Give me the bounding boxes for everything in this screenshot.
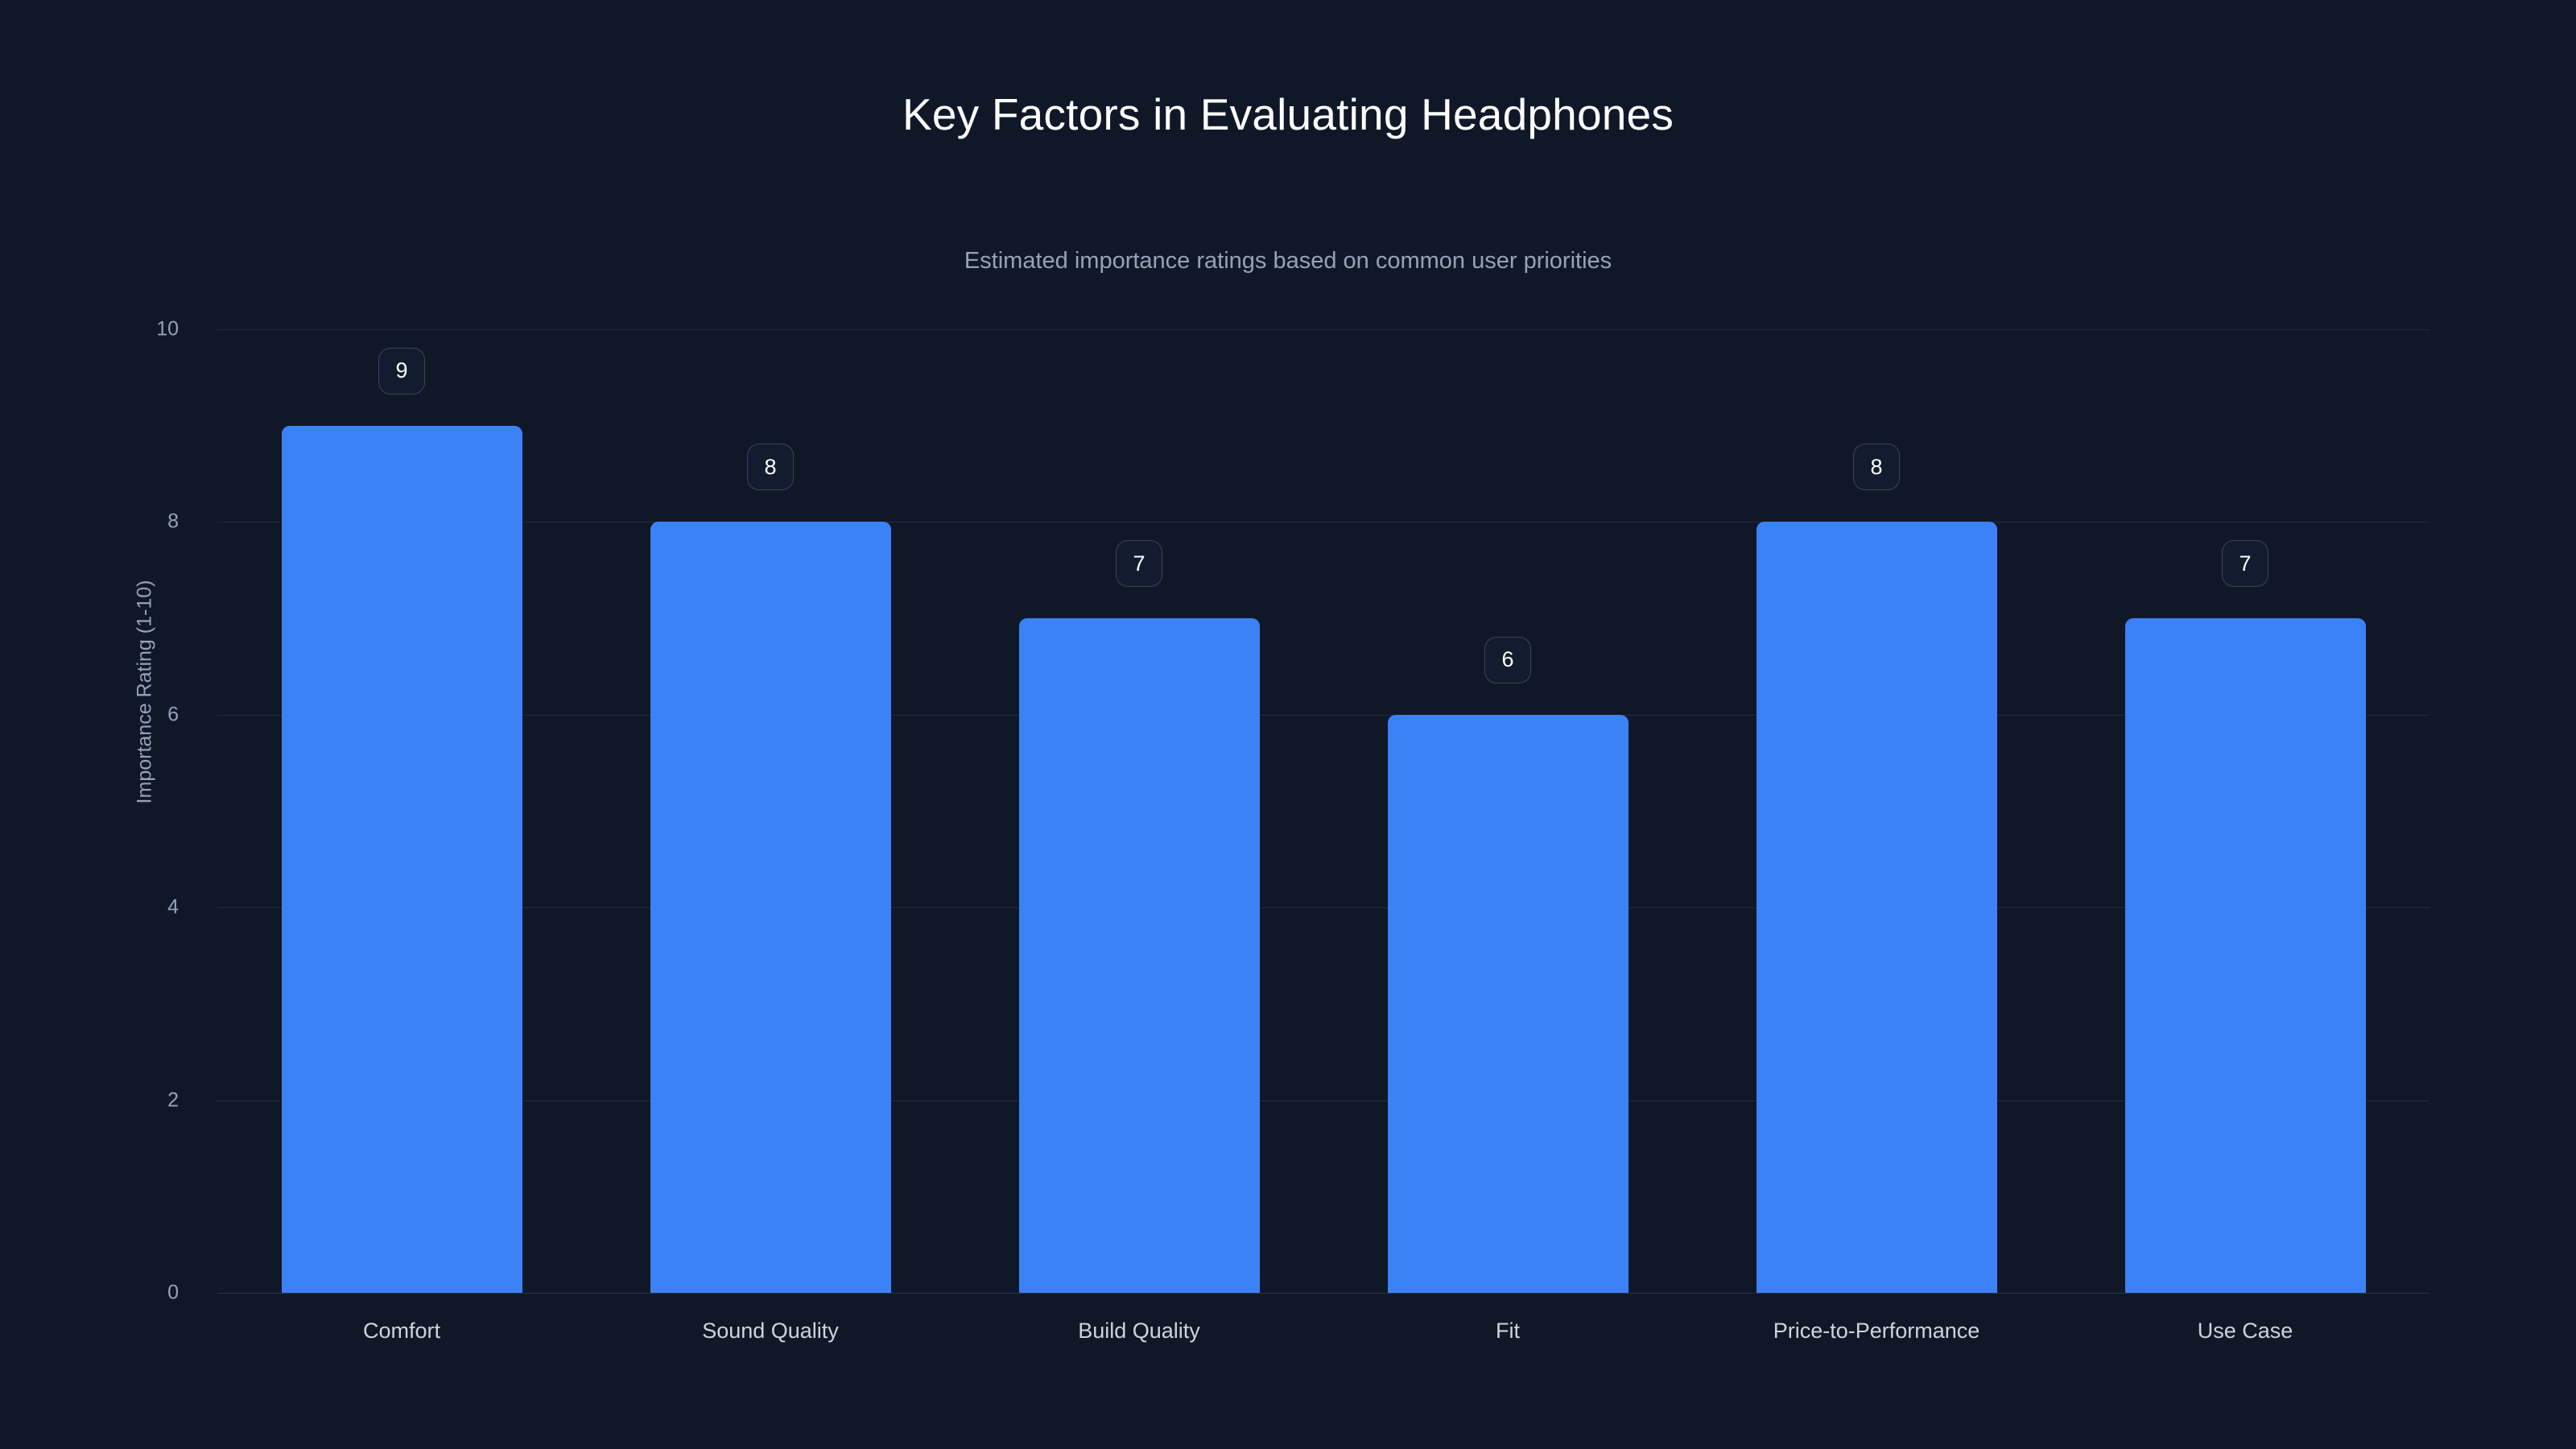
- y-axis-tick-label: 4: [167, 896, 179, 919]
- bar-value-badge: 7: [2222, 540, 2268, 587]
- x-axis-tick-label: Comfort: [363, 1319, 440, 1344]
- bar-group[interactable]: 8: [1757, 329, 1997, 1293]
- bar-group[interactable]: 8: [650, 329, 891, 1293]
- bar-value-badge: 9: [378, 348, 425, 394]
- chart-subtitle: Estimated importance ratings based on co…: [0, 247, 2576, 275]
- x-axis-tick-label: Use Case: [2198, 1319, 2293, 1344]
- bar[interactable]: [1757, 522, 1997, 1293]
- bar-value-badge: 7: [1116, 540, 1162, 587]
- bar-value-badge: 8: [747, 444, 794, 490]
- gridline: [217, 1293, 2429, 1294]
- page-title: Key Factors in Evaluating Headphones: [0, 90, 2576, 139]
- bar-group[interactable]: 7: [2125, 329, 2366, 1293]
- bars-layer: 987687: [217, 329, 2429, 1293]
- y-axis-tick-label: 2: [167, 1088, 179, 1112]
- y-axis-tick-label: 10: [156, 318, 179, 341]
- bar-value-badge: 8: [1853, 444, 1900, 490]
- x-axis-tick-label: Build Quality: [1078, 1319, 1200, 1344]
- bar-group[interactable]: 9: [282, 329, 522, 1293]
- bar[interactable]: [650, 522, 891, 1293]
- bar[interactable]: [1019, 618, 1260, 1293]
- chart-canvas: Key Factors in Evaluating Headphones Est…: [0, 0, 2576, 1449]
- bar-group[interactable]: 7: [1019, 329, 1260, 1293]
- x-axis-tick-label: Price-to-Performance: [1773, 1319, 1980, 1344]
- x-axis-tick-label: Fit: [1496, 1319, 1520, 1344]
- bar[interactable]: [282, 426, 522, 1293]
- bar-value-badge: 6: [1484, 637, 1531, 683]
- y-axis-tick-labels: 1086420: [0, 329, 201, 1293]
- y-axis-tick-label: 6: [167, 703, 179, 726]
- y-axis-tick-label: 0: [167, 1282, 179, 1305]
- bar[interactable]: [2125, 618, 2366, 1293]
- bar-group[interactable]: 6: [1388, 329, 1629, 1293]
- x-axis-tick-labels: ComfortSound QualityBuild QualityFitPric…: [217, 1319, 2429, 1359]
- bar[interactable]: [1388, 715, 1629, 1293]
- y-axis-tick-label: 8: [167, 510, 179, 534]
- x-axis-tick-label: Sound Quality: [702, 1319, 839, 1344]
